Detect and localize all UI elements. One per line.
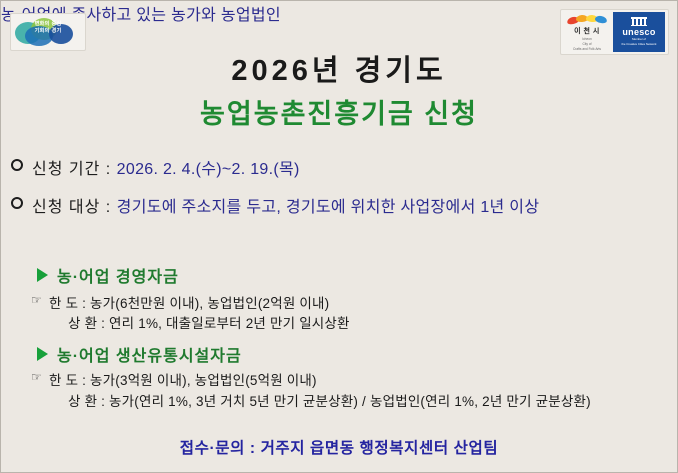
application-period-label: 신청 기간 :: [32, 155, 117, 179]
gyeonggi-logo-slogan: 변화의 중심 기회의 경기: [19, 21, 77, 35]
fund2-limit-row: 한 도 : 농가(3억원 이내), 농업법인(5억원 이내): [49, 369, 317, 389]
icheon-logo-sub2: City of: [582, 42, 591, 46]
contact-footer: 접수·문의 : 거주지 읍면동 행정복지센터 산업팀: [1, 436, 677, 458]
fund1-repay-label: 상 환 :: [68, 316, 109, 331]
gyeonggi-province-logo: 변화의 중심 기회의 경기: [10, 13, 86, 51]
icheon-logo-sub1: Icheon: [582, 37, 592, 41]
fund1-limit-row: 한 도 : 농가(6천만원 이내), 농업법인(2억원 이내): [49, 292, 329, 312]
poster-canvas: 변화의 중심 기회의 경기 이 천 시 Icheon City of Craft…: [0, 0, 678, 473]
application-period-value: 2026. 2. 4.(수)~2. 19.(목): [117, 155, 300, 179]
fund2-repay-label: 상 환 :: [68, 394, 109, 409]
icheon-brush-icon: [567, 14, 607, 25]
application-target-row: 신청 대상 : 경기도에 주소지를 두고, 경기도에 위치한 사업장에서 1년 …: [11, 193, 671, 217]
icheon-city-logo: 이 천 시 Icheon City of Crafts and Folk Art…: [564, 12, 610, 52]
fund2-heading-label: 농·어업 생산유통시설자금: [57, 342, 242, 366]
fund1-limit-value: 농가(6천만원 이내), 농업법인(2억원 이내): [90, 296, 329, 311]
unesco-creative-cities-logo: unesco Member of the Creative Cities Net…: [613, 12, 665, 52]
circle-bullet-icon: [11, 159, 23, 171]
fund1-heading-label: 농·어업 경영자금: [57, 263, 179, 287]
fund1-limit-label: 한 도 :: [49, 296, 90, 311]
poster-title-line1: 2026년 경기도: [1, 47, 677, 89]
unesco-temple-icon: [631, 17, 647, 26]
gyeonggi-slogan-line2: 기회의 경기: [19, 28, 77, 35]
fund-heading-facility: 농·어업 생산유통시설자금: [37, 342, 242, 366]
fund1-repay-value: 연리 1%, 대출일로부터 2년 만기 일시상환: [109, 316, 350, 331]
circle-bullet-icon: [11, 197, 23, 209]
pointing-hand-icon: ☞: [31, 370, 42, 384]
fund2-limit-label: 한 도 :: [49, 373, 90, 388]
poster-title-line2: 농업농촌진흥기금 신청: [1, 92, 677, 131]
fund1-repayment-row: 상 환 : 연리 1%, 대출일로부터 2년 만기 일시상환: [68, 312, 350, 332]
triangle-right-icon: [37, 347, 48, 361]
icheon-logo-label: 이 천 시: [574, 26, 600, 36]
triangle-right-icon: [37, 268, 48, 282]
gyeonggi-slogan-line1: 변화의 중심: [19, 21, 77, 28]
fund2-limit-value: 농가(3억원 이내), 농업법인(5억원 이내): [90, 373, 317, 388]
fund2-repay-value: 농가(연리 1%, 3년 거치 5년 만기 균분상환) / 농업법인(연리 1%…: [109, 394, 591, 409]
pointing-hand-icon: ☞: [31, 293, 42, 307]
application-target-label: 신청 대상 :: [32, 193, 117, 217]
unesco-logo-label: unesco: [622, 27, 655, 37]
application-target-value: 경기도에 주소지를 두고, 경기도에 위치한 사업장에서 1년 이상: [117, 193, 540, 217]
fund2-repayment-row: 상 환 : 농가(연리 1%, 3년 거치 5년 만기 균분상환) / 농업법인…: [68, 390, 591, 410]
application-period-row: 신청 기간 : 2026. 2. 4.(수)~2. 19.(목): [11, 155, 300, 179]
fund-heading-management: 농·어업 경영자금: [37, 263, 179, 287]
